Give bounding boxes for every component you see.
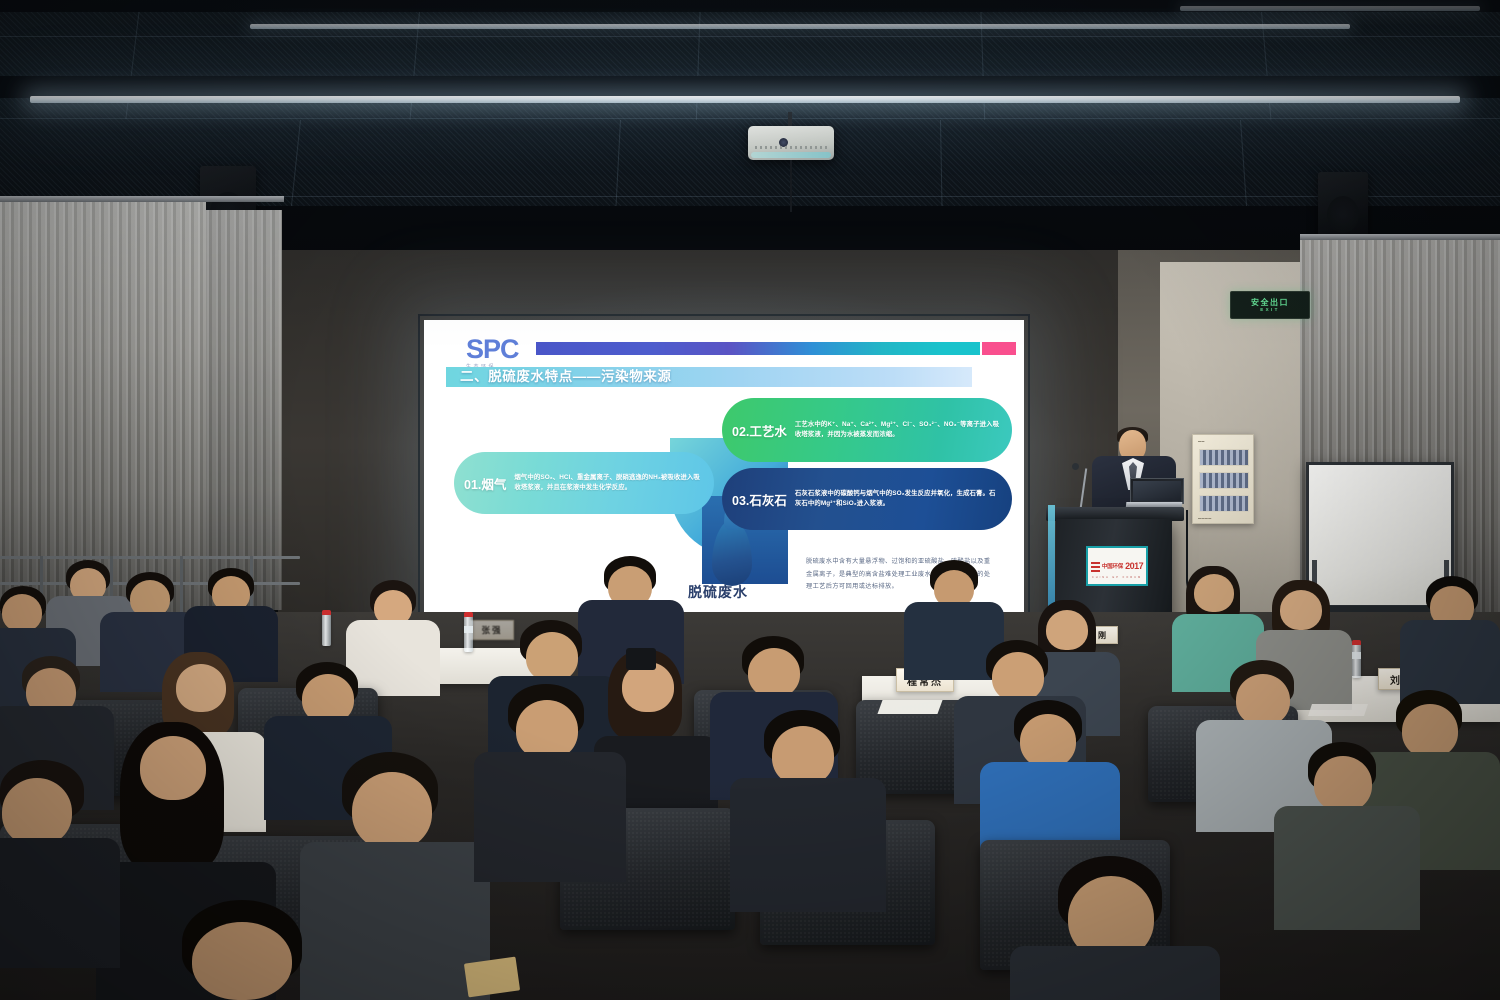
slide-header-band — [536, 342, 980, 355]
exit-sign-english: EXIT — [1260, 307, 1280, 313]
linear-light-strip-front — [30, 96, 1460, 103]
slide-card-03-label: 03.石灰石 — [732, 490, 787, 509]
document-paper-1 — [877, 700, 942, 714]
slide-card-01-label: 01.烟气 — [464, 474, 506, 493]
water-bottle-1 — [464, 616, 473, 652]
exit-sign-chinese: 安全出口 — [1251, 298, 1289, 307]
slide-bottom-label: 脱硫废水 — [688, 582, 748, 602]
slide-header-pink-accent — [982, 342, 1016, 355]
water-bottle-1-label — [464, 626, 473, 633]
water-bottle-3 — [1352, 644, 1361, 678]
water-bottle-1-cap — [464, 612, 473, 617]
ceiling-beam-mid — [0, 76, 1500, 98]
water-bottle-4 — [322, 614, 331, 646]
slide-card-03: 03.石灰石 石灰石浆液中的碳酸钙与烟气中的SO₂发生反应并氧化，生成石膏。石灰… — [722, 468, 1012, 530]
curtain-rail-left — [0, 196, 284, 202]
ceiling-projector — [748, 126, 834, 160]
water-bottle-4-cap — [322, 610, 331, 615]
breaker-row-1 — [1199, 449, 1249, 466]
conference-scene: SPC 生态环保 二、脱硫废水特点——污染物来源 02.工艺水 工艺水中的K⁺、… — [0, 0, 1500, 1000]
projector-vent — [755, 146, 827, 149]
document-paper-2 — [1308, 704, 1368, 716]
projector-accent-band — [751, 152, 830, 158]
raised-arm-phone — [626, 648, 656, 670]
slide-card-02-body: 工艺水中的K⁺、Na⁺、Ca²⁺、Mg²⁺、Cl⁻、SO₄²⁻、NO₃⁻等离子进… — [795, 420, 1000, 441]
curtain-rail-right — [1300, 234, 1500, 240]
podium-event-sign: 中国环保 2017 CHINA EP FORUM — [1086, 546, 1148, 586]
curtain-left-inner-shading — [198, 210, 282, 610]
logo-text: SPC — [466, 336, 530, 362]
water-bottle-3-label — [1352, 652, 1361, 659]
placard-text: 张强 — [481, 624, 502, 636]
microphone-head — [1072, 463, 1079, 470]
event-sign-year: 2017 — [1125, 561, 1143, 571]
breaker-row-2 — [1199, 472, 1249, 489]
name-placard-zhangqiang: 张强 — [470, 620, 514, 640]
projector-cable — [790, 160, 792, 212]
panel-tag-top: ▬▬ — [1198, 439, 1205, 443]
presenter-laptop-screen — [1130, 478, 1184, 504]
slide-card-03-body: 石灰石浆液中的碳酸钙与烟气中的SO₂发生反应并氧化，生成石膏。石灰石中的Mg²⁺… — [795, 489, 1000, 510]
water-bottle-3-cap — [1352, 640, 1361, 645]
exit-sign: 安全出口 EXIT — [1230, 291, 1310, 319]
curtain-left-inner — [198, 210, 282, 610]
linear-light-strip-back — [250, 24, 1350, 29]
slide-card-02-label: 02.工艺水 — [732, 421, 787, 440]
slide-card-01-body: 烟气中的SO₂、HCl、重金属离子、脱硝逃逸的NH₃被吸收进入吸收塔浆液，并且在… — [514, 473, 702, 494]
event-sign-chinese: 中国环保 — [1102, 562, 1123, 570]
slide-card-01: 01.烟气 烟气中的SO₂、HCl、重金属离子、脱硝逃逸的NH₃被吸收进入吸收塔… — [454, 452, 714, 514]
document-paper-3 — [464, 957, 520, 998]
event-sign-subtitle: CHINA EP FORUM — [1092, 576, 1142, 579]
slide-card-02: 02.工艺水 工艺水中的K⁺、Na⁺、Ca²⁺、Mg²⁺、Cl⁻、SO₄²⁻、N… — [722, 398, 1012, 462]
curtain-left-shading — [0, 198, 206, 618]
slide-section-title: 二、脱硫废水特点——污染物来源 — [460, 367, 672, 387]
event-logo-mark — [1091, 561, 1100, 572]
linear-light-strip-side — [1180, 6, 1480, 11]
curtain-left — [0, 198, 206, 618]
